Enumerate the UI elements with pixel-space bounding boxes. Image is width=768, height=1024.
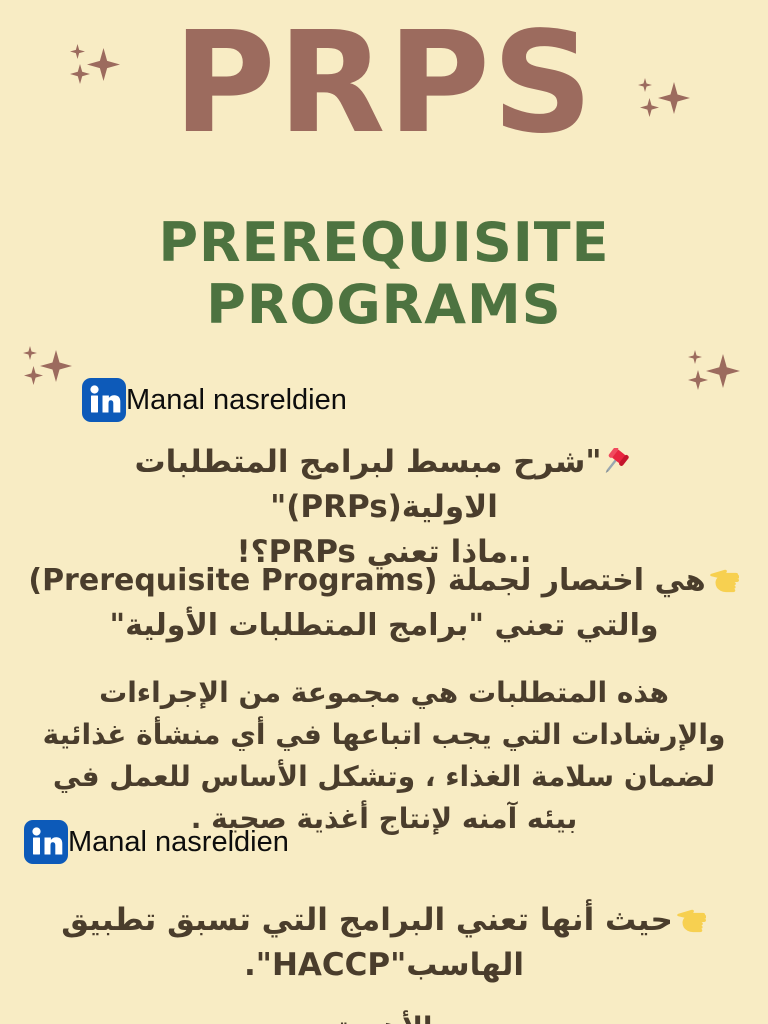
haccp-line-2: الهاسب"HACCP".: [24, 943, 744, 988]
sparkle-star-medium: [24, 366, 43, 385]
pointing-left-hand-icon: [674, 902, 706, 928]
author-credit-top[interactable]: Manal nasreldien: [82, 378, 347, 422]
page-title: PRPS: [0, 14, 768, 154]
definition-line-2: والتي تعني "برامج المتطلبات الأولية": [24, 603, 744, 648]
pointing-left-hand-icon: [707, 562, 739, 588]
next-section-partial: الأهمية: [24, 1008, 744, 1024]
author-name: Manal nasreldien: [126, 386, 347, 415]
author-name: Manal nasreldien: [68, 828, 289, 857]
sparkle-star-large: [706, 354, 740, 388]
intro-line-1: "شرح مبسط لبرامج المتطلبات الاولية(PRPs)…: [24, 440, 744, 530]
author-credit-bottom[interactable]: Manal nasreldien: [24, 820, 289, 864]
haccp-line-1: حيث أنها تعني البرامج التي تسبق تطبيق: [24, 898, 744, 943]
sparkles-icon-mid-right: [666, 334, 756, 400]
definition-block: هي اختصار لجملة (Prerequisite Programs) …: [24, 558, 744, 648]
description-block: هذه المتطلبات هي مجموعة من الإجراءات وال…: [30, 672, 738, 840]
linkedin-icon[interactable]: [82, 378, 126, 422]
subtitle-line-2: PROGRAMS: [60, 274, 708, 336]
intro-text-1: "شرح مبسط لبرامج المتطلبات الاولية(PRPs)…: [135, 444, 602, 525]
poster-canvas: PRPS PREREQUISITE PROGRAMS Manal nasreld…: [0, 0, 768, 1024]
haccp-text-1: حيث أنها تعني البرامج التي تسبق تطبيق: [61, 902, 673, 938]
definition-text-1: هي اختصار لجملة (Prerequisite Programs): [28, 563, 705, 598]
haccp-block: حيث أنها تعني البرامج التي تسبق تطبيق ال…: [24, 898, 744, 988]
intro-block: "شرح مبسط لبرامج المتطلبات الاولية(PRPs)…: [24, 440, 744, 575]
sparkle-star-medium: [688, 370, 708, 390]
pushpin-icon: [602, 446, 632, 476]
sparkle-star-large: [40, 350, 72, 382]
sparkle-star-small: [23, 346, 37, 360]
definition-line-1: هي اختصار لجملة (Prerequisite Programs): [24, 558, 744, 603]
linkedin-icon[interactable]: [24, 820, 68, 864]
subtitle-line-1: PREREQUISITE: [60, 212, 708, 274]
page-subtitle: PREREQUISITE PROGRAMS: [60, 212, 708, 336]
sparkle-star-small: [688, 350, 702, 364]
